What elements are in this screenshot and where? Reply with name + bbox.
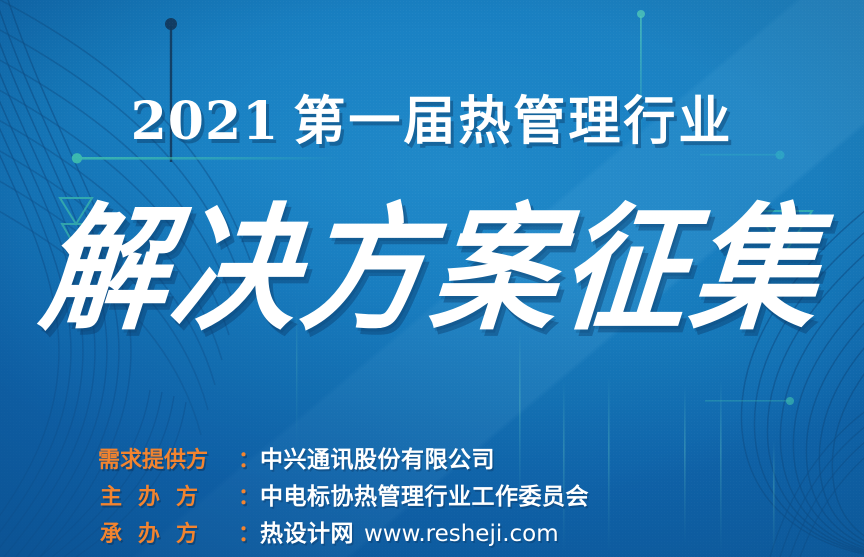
info-value-host: 热设计网 xyxy=(260,514,354,548)
title-year: 2021 xyxy=(131,91,294,152)
title-subject: 第一届热管理行业 xyxy=(293,94,733,151)
page-title: 2021第一届热管理行业 xyxy=(131,96,734,149)
info-block: 需求提供方 ： 中兴通讯股份有限公司 主办方 ： 中电标协热管理行业工作委员会 … xyxy=(98,440,798,551)
info-host-url[interactable]: www.resheji.com xyxy=(364,521,559,547)
poster-canvas: 2021第一届热管理行业 解决方案征集 需求提供方 ： 中兴通讯股份有限公司 主… xyxy=(0,0,864,557)
poster-content: 2021第一届热管理行业 解决方案征集 需求提供方 ： 中兴通讯股份有限公司 主… xyxy=(0,0,864,557)
info-line-host: 承办方 ： 热设计网 www.resheji.com xyxy=(98,514,798,551)
title-row: 2021第一届热管理行业 xyxy=(0,96,864,149)
info-colon-organizer: ： xyxy=(238,479,260,511)
info-colon-requester: ： xyxy=(238,442,260,474)
info-line-requester: 需求提供方 ： 中兴通讯股份有限公司 xyxy=(98,440,798,477)
info-colon-host: ： xyxy=(238,516,260,548)
info-value-requester: 中兴通讯股份有限公司 xyxy=(260,440,495,474)
info-label-organizer: 主办方 xyxy=(98,479,238,511)
info-line-organizer: 主办方 ： 中电标协热管理行业工作委员会 xyxy=(98,477,798,514)
info-value-organizer: 中电标协热管理行业工作委员会 xyxy=(260,477,589,511)
hero-calligraphy-title: 解决方案征集 xyxy=(36,201,828,337)
info-label-requester: 需求提供方 xyxy=(98,442,238,474)
hero-row: 解决方案征集 xyxy=(0,206,864,332)
info-label-host: 承办方 xyxy=(98,516,238,548)
